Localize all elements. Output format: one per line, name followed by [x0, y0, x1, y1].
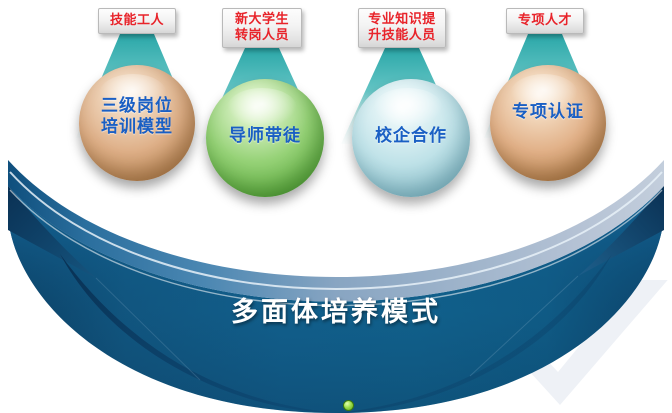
sphere-mentorship[interactable]: 导师带徒 [206, 79, 324, 197]
sphere-body [490, 65, 606, 181]
sphere-body [79, 65, 195, 181]
bowl-shape [0, 150, 672, 413]
sphere-school-enterprise[interactable]: 校企合作 [352, 79, 470, 197]
label-special-talent[interactable]: 专项人才 [506, 8, 584, 34]
label-professional-upskill[interactable]: 专业知识提 升技能人员 [358, 8, 446, 48]
sphere-three-level-training[interactable]: 三级岗位 培训模型 [79, 65, 195, 181]
bowl-bottom-dot [343, 400, 354, 411]
label-new-graduates[interactable]: 新大学生 转岗人员 [222, 8, 302, 48]
sphere-body [352, 79, 470, 197]
sphere-body [206, 79, 324, 197]
sphere-special-certification[interactable]: 专项认证 [490, 65, 606, 181]
label-skilled-workers[interactable]: 技能工人 [98, 8, 176, 34]
diagram-canvas: 技能工人 新大学生 转岗人员 专业知识提 升技能人员 专项人才 [0, 0, 672, 413]
